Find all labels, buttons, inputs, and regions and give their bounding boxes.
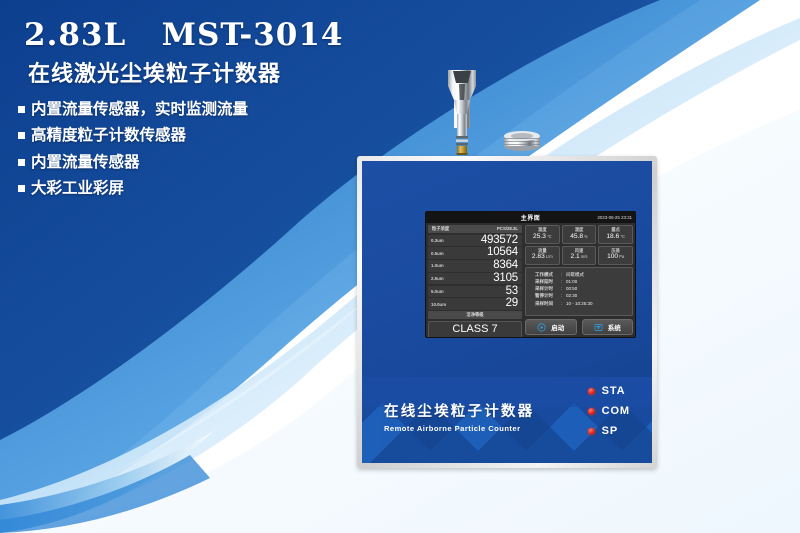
feature-text: 高精度粒子计数传感器 <box>31 128 186 144</box>
parameter-value: 10 - 10:25:30 <box>566 300 593 307</box>
metric-tile[interactable]: 压差 100Pa <box>598 246 633 265</box>
lcd-screen[interactable]: 主界面 2023-06-25 23:31 粒子浓度 PCS/28.3L 0.3u… <box>425 211 636 338</box>
parameter-value: 01:00 <box>566 278 577 285</box>
metric-value: 2.1 <box>571 253 580 260</box>
metric-value: 2.83 <box>532 253 545 260</box>
device-front-panel: 主界面 2023-06-25 23:31 粒子浓度 PCS/28.3L 0.3u… <box>362 161 652 463</box>
product-model: 2.83L MST-3014 <box>18 18 348 54</box>
column-header-count: PCS/28.3L <box>497 226 518 232</box>
metric-tile[interactable]: 湿度 45.8% <box>562 225 597 244</box>
particle-size: 5.0um <box>431 289 444 294</box>
parameter-row: 采样时间 : 10 - 10:25:30 <box>535 300 628 307</box>
metric-unit: % <box>584 234 588 239</box>
screen-action-buttons: 启动 系统 <box>525 318 633 335</box>
metric-value-row: 2.83L/m <box>526 253 559 261</box>
particle-counter-device: 主界面 2023-06-25 23:31 粒子浓度 PCS/28.3L 0.3u… <box>357 156 657 468</box>
metric-value-row: 45.8% <box>563 233 596 241</box>
feature-item: 内置流量传感器 <box>18 155 348 171</box>
product-subtitle: 在线激光尘埃粒子计数器 <box>18 56 348 88</box>
metric-value: 18.6 <box>606 233 619 240</box>
system-button[interactable]: 系统 <box>582 319 634 335</box>
particle-count: 29 <box>506 298 518 310</box>
feature-item: 高精度粒子计数传感器 <box>18 128 348 144</box>
parameter-label: 暂停计时 <box>535 292 561 299</box>
status-led-group: STA COM SP <box>588 385 630 437</box>
table-row[interactable]: 2.5um 3105 <box>428 273 522 285</box>
bullet-square-icon <box>18 132 25 139</box>
particle-table-rows: 0.3um 493572 0.5um 10564 1.0um 8364 <box>428 235 522 310</box>
brand-name-en: Remote Airborne Particle Counter <box>384 424 534 433</box>
cleanliness-value: CLASS 7 <box>428 321 522 338</box>
parameter-value: 02:30 <box>566 292 577 299</box>
isokinetic-probe <box>436 66 556 161</box>
led-label: SP <box>602 425 618 437</box>
particle-count: 3105 <box>493 273 518 285</box>
particle-size: 1.0um <box>431 263 444 268</box>
parameter-value: 间歇模式 <box>566 271 584 278</box>
device-branding: 在线尘埃粒子计数器 Remote Airborne Particle Count… <box>384 400 534 433</box>
particle-table-panel: 粒子浓度 PCS/28.3L 0.3um 493572 0.5um 10564 <box>428 225 522 335</box>
headline-block: 2.83L MST-3014 在线激光尘埃粒子计数器 内置流量传感器，实时监测流… <box>18 18 348 208</box>
bullet-square-icon <box>18 185 25 192</box>
system-button-label: 系统 <box>608 322 621 332</box>
metric-tile[interactable]: 温度 25.3℃ <box>525 225 560 244</box>
probe-svg <box>436 66 556 161</box>
metric-value: 100 <box>607 253 618 260</box>
table-row[interactable]: 5.0um 53 <box>428 286 522 298</box>
parameter-label: 工作模式 <box>535 271 561 278</box>
system-icon <box>594 323 603 332</box>
start-button-label: 启动 <box>551 322 564 332</box>
feature-list: 内置流量传感器，实时监测流量 高精度粒子计数传感器 内置流量传感器 大彩工业彩屏 <box>18 102 348 197</box>
parameter-row: 采样延时 : 01:00 <box>535 278 628 285</box>
feature-item: 大彩工业彩屏 <box>18 181 348 197</box>
metric-value-row: 100Pa <box>599 253 632 261</box>
particle-count: 493572 <box>481 235 518 247</box>
particle-size: 10.0um <box>431 302 446 307</box>
feature-text: 大彩工业彩屏 <box>31 181 124 197</box>
parameter-label: 采样延时 <box>535 278 561 285</box>
screen-datetime: 2023-06-25 23:31 <box>597 215 632 220</box>
led-label: STA <box>602 385 626 397</box>
particle-size: 2.5um <box>431 276 444 281</box>
start-button[interactable]: 启动 <box>525 319 577 335</box>
status-led-com: COM <box>588 405 630 417</box>
brand-name-cn: 在线尘埃粒子计数器 <box>384 400 534 421</box>
parameter-row: 采样计时 : 00:50 <box>535 285 628 292</box>
table-row[interactable]: 1.0um 8364 <box>428 260 522 272</box>
poster-canvas: 2.83L MST-3014 在线激光尘埃粒子计数器 内置流量传感器，实时监测流… <box>0 0 800 533</box>
feature-text: 内置流量传感器 <box>31 155 140 171</box>
metric-value-row: 2.1m/s <box>563 253 596 261</box>
metric-value-row: 25.3℃ <box>526 233 559 241</box>
metric-grid: 温度 25.3℃ 湿度 45.8% 露点 18.6℃ <box>525 225 633 265</box>
table-row[interactable]: 0.3um 493572 <box>428 235 522 247</box>
particle-size: 0.5um <box>431 251 444 256</box>
table-row[interactable]: 0.5um 10564 <box>428 247 522 259</box>
metric-tile[interactable]: 露点 18.6℃ <box>598 225 633 244</box>
metric-unit: m/s <box>581 254 588 259</box>
status-led-sta: STA <box>588 385 630 397</box>
play-icon <box>537 323 546 332</box>
parameter-value: 00:50 <box>566 285 577 292</box>
metric-unit: ℃ <box>620 234 625 239</box>
parameter-row: 暂停计时 : 02:30 <box>535 292 628 299</box>
particle-count: 10564 <box>487 247 518 259</box>
particle-count: 8364 <box>493 260 518 272</box>
led-indicator-icon <box>588 408 595 415</box>
bullet-square-icon <box>18 159 25 166</box>
sampling-parameters: 工作模式 : 间歇模式 采样延时 : 01:00 采样计时 <box>525 267 633 316</box>
led-indicator-icon <box>588 428 595 435</box>
metric-value-row: 18.6℃ <box>599 233 632 241</box>
bullet-square-icon <box>18 106 25 113</box>
metric-tile[interactable]: 风速 2.1m/s <box>562 246 597 265</box>
metric-unit: Pa <box>619 254 624 259</box>
particle-count: 53 <box>506 286 518 298</box>
led-indicator-icon <box>588 388 595 395</box>
particle-table-header: 粒子浓度 PCS/28.3L <box>428 225 522 233</box>
feature-item: 内置流量传感器，实时监测流量 <box>18 102 348 118</box>
column-header-size: 粒子浓度 <box>432 226 449 232</box>
metric-value: 25.3 <box>533 233 546 240</box>
particle-size: 0.3um <box>431 238 444 243</box>
feature-text: 内置流量传感器，实时监测流量 <box>31 102 248 118</box>
status-led-sp: SP <box>588 425 630 437</box>
status-panel: 温度 25.3℃ 湿度 45.8% 露点 18.6℃ <box>525 225 633 335</box>
table-row[interactable]: 10.0um 29 <box>428 298 522 310</box>
screen-body: 粒子浓度 PCS/28.3L 0.3um 493572 0.5um 10564 <box>426 223 635 337</box>
metric-unit: ℃ <box>547 234 552 239</box>
parameter-label: 采样时间 <box>535 300 561 307</box>
parameter-label: 采样计时 <box>535 285 561 292</box>
led-label: COM <box>602 405 630 417</box>
parameter-row: 工作模式 : 间歇模式 <box>535 271 628 278</box>
metric-unit: L/m <box>546 254 553 259</box>
cleanliness-label: 洁净等级 <box>428 311 522 319</box>
metric-value: 45.8 <box>570 233 583 240</box>
metric-tile[interactable]: 流量 2.83L/m <box>525 246 560 265</box>
screen-titlebar: 主界面 2023-06-25 23:31 <box>426 212 635 223</box>
